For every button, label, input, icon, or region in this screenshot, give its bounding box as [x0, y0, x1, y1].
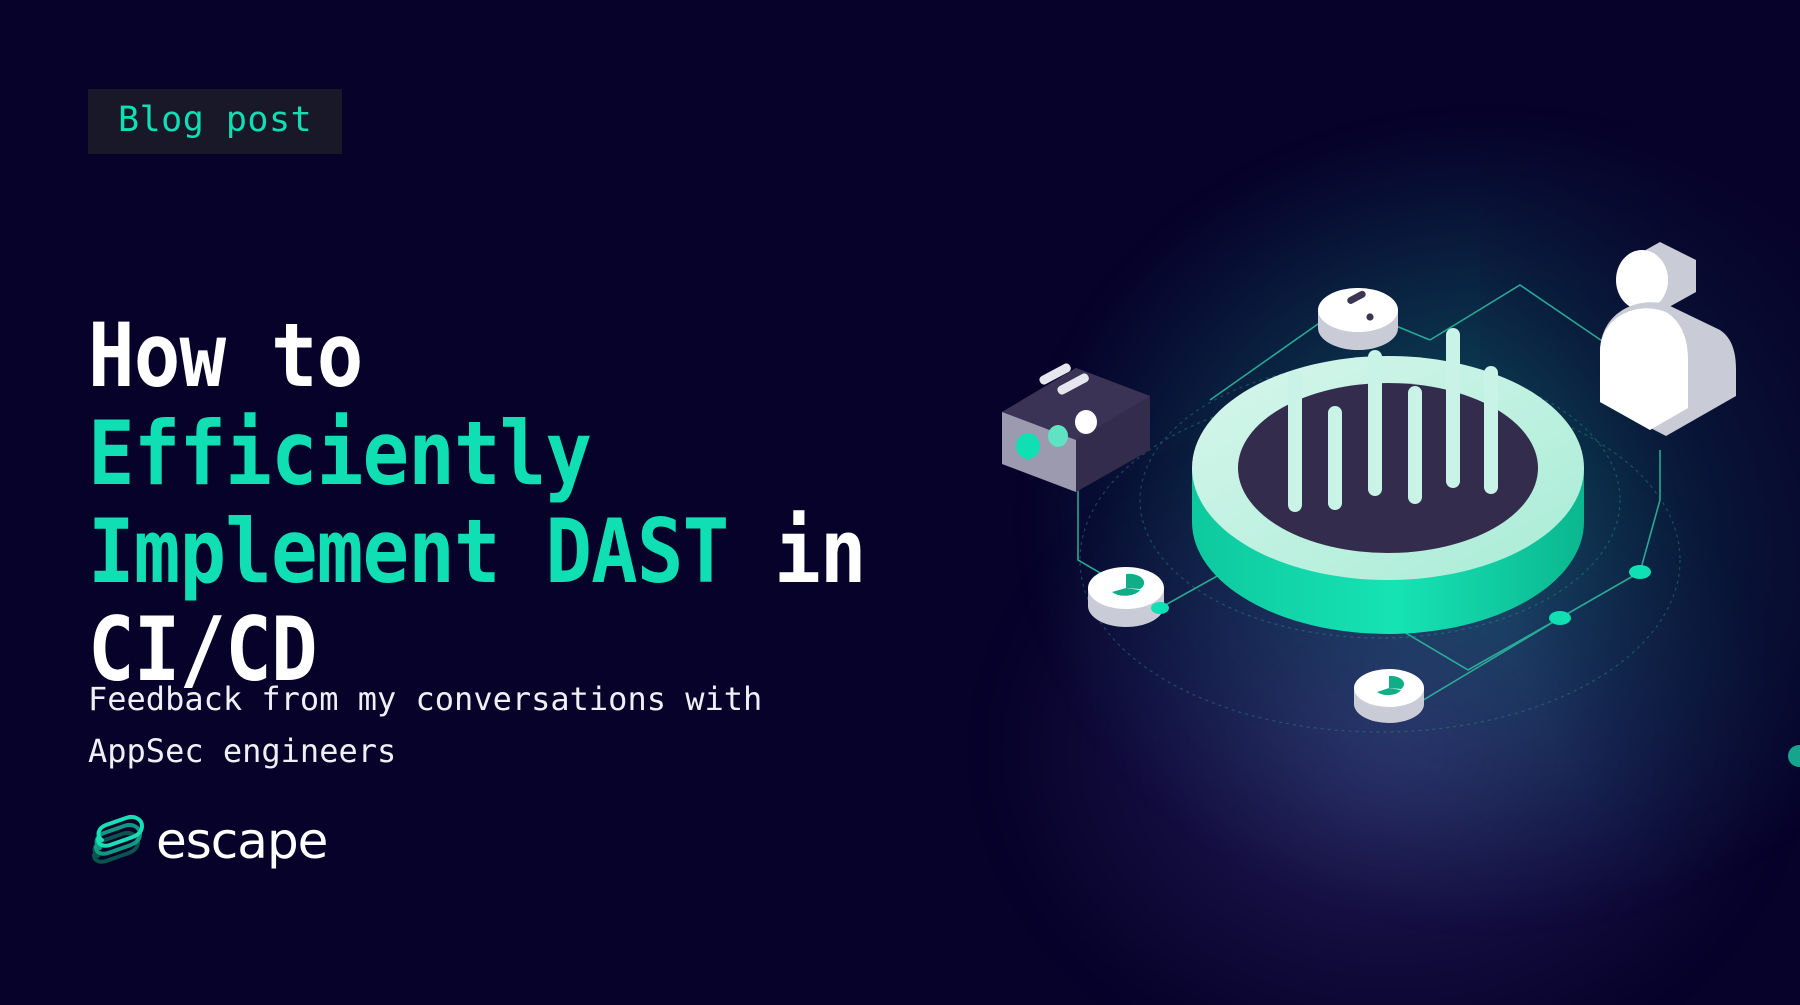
chart-disk-left: [1088, 567, 1164, 627]
central-platform: [1192, 328, 1584, 634]
headline-line2-white: in: [728, 500, 865, 603]
chart-disk-bottom: [1354, 669, 1424, 723]
page-subtitle: Feedback from my conversations withAppSe…: [88, 673, 968, 777]
led-green: [1016, 433, 1040, 459]
blog-post-badge: Blog post: [88, 89, 342, 154]
headline-line2-accent: Implement DAST: [88, 500, 728, 603]
headline-line1-accent: Efficiently: [88, 402, 591, 505]
stacked-layers-logo-icon: [88, 812, 144, 870]
edge-accent-dot: [1788, 745, 1800, 767]
subtitle-line2: AppSec engineers: [88, 732, 396, 770]
badge-label: Blog post: [118, 100, 312, 140]
subtitle-line1: Feedback from my conversations with: [88, 680, 762, 718]
hero-illustration: [960, 200, 1800, 760]
led-white: [1075, 410, 1097, 434]
user-figure: [1600, 242, 1736, 436]
page-title: How to EfficientlyImplement DAST inCI/CD: [88, 307, 880, 699]
brand-logo: escape: [88, 812, 327, 870]
server-box: [1002, 362, 1150, 492]
logo-wordmark: escape: [156, 816, 327, 866]
headline-line1-white: How to: [88, 304, 362, 407]
alert-disk: [1318, 288, 1398, 350]
hero-banner: Blog post How to EfficientlyImplement DA…: [0, 0, 1800, 1005]
led-teal: [1048, 425, 1068, 447]
